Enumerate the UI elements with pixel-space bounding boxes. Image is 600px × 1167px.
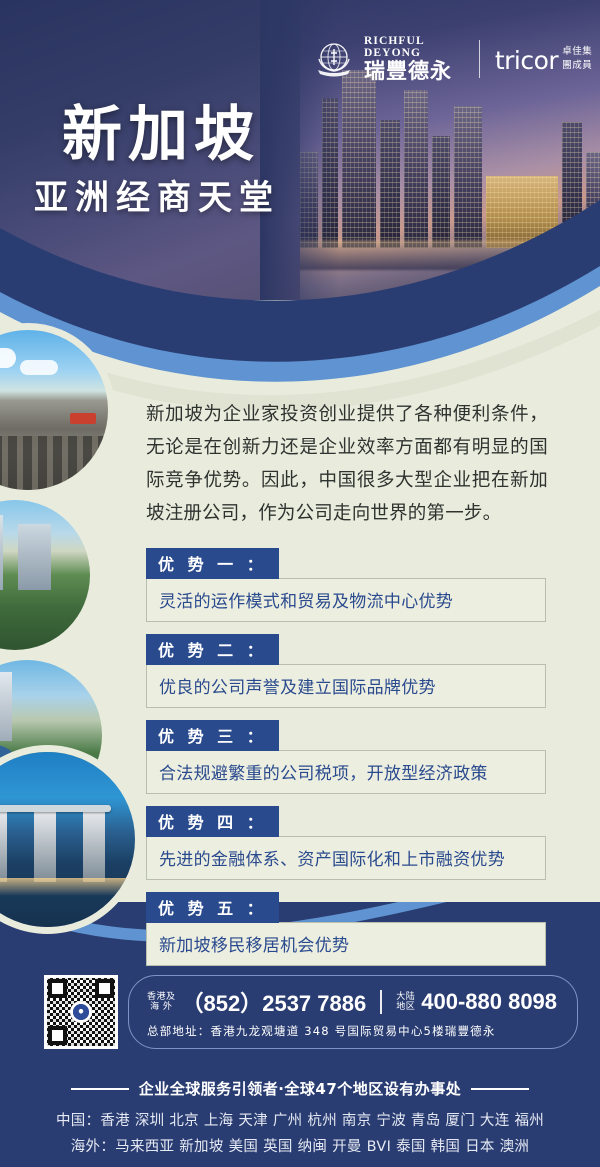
photo-greenery-cityscape <box>0 500 90 650</box>
advantage-label: 优 势 二 ： <box>146 634 279 665</box>
qr-code[interactable] <box>44 975 118 1049</box>
qr-finder-top-left <box>48 979 67 998</box>
brand-name-cn: 瑞豐德永 <box>364 61 464 82</box>
globe-crest-icon <box>312 37 356 81</box>
footer-tagline-text: 企业全球服务引领者·全球47个地区设有办事处 <box>139 1078 462 1099</box>
advantage-label: 优 势 一 ： <box>146 548 279 579</box>
contact-block: 香港及 海 外 （852）2537 7886 大陆 地区 400-880 809… <box>44 975 578 1049</box>
rule-right-icon <box>471 1088 529 1090</box>
brand-wordmark: RICHFUL DEYONG 瑞豐德永 <box>364 36 464 82</box>
cn-region-label: 大陆 地区 <box>396 992 415 1012</box>
partner-name-cn: 卓佳集團成員 <box>562 43 600 75</box>
rule-left-icon <box>71 1088 129 1090</box>
qr-finder-top-right <box>95 979 114 998</box>
advantage-label: 优 势 四 ： <box>146 806 279 837</box>
poster-root: 新加坡 亚洲经商天堂 RICHFUL DEYONG 瑞豐德永 tricor 卓佳… <box>0 0 600 1167</box>
advantage-item: 优 势 一 ： 灵活的运作模式和贸易及物流中心优势 <box>146 548 546 622</box>
overseas-offices: 海外：马来西亚 新加坡 美国 英国 纳闽 开曼 BVI 泰国 韩国 日本 澳洲 <box>0 1134 600 1160</box>
advantage-item: 优 势 二 ： 优良的公司声誉及建立国际品牌优势 <box>146 634 546 708</box>
office-locations: 中国：香港 深圳 北京 上海 天津 广州 杭州 南京 宁波 青岛 厦门 大连 福… <box>0 1108 600 1160</box>
advantage-item: 优 势 三 ： 合法规避繁重的公司税项，开放型经济政策 <box>146 720 546 794</box>
partner-name: tricor <box>495 46 558 75</box>
qr-finder-bottom-left <box>48 1026 67 1045</box>
advantage-item: 优 势 五 ： 新加坡移民移居机会优势 <box>146 892 546 966</box>
advantage-text: 新加坡移民移居机会优势 <box>146 922 546 966</box>
advantage-item: 优 势 四 ： 先进的金融体系、资产国际化和上市融资优势 <box>146 806 546 880</box>
phone-line: 香港及 海 外 （852）2537 7886 大陆 地区 400-880 809… <box>147 986 557 1018</box>
photo-shophouse-street <box>0 330 108 490</box>
phone-divider <box>380 990 382 1014</box>
partner-lockup: tricor 卓佳集團成員 <box>495 43 600 75</box>
advantage-label: 优 势 五 ： <box>146 892 279 923</box>
qr-pattern <box>47 978 115 1046</box>
page-subtitle: 亚洲经商天堂 <box>34 170 280 219</box>
cn-phone-number[interactable]: 400-880 8098 <box>421 989 557 1015</box>
footer-tagline: 企业全球服务引领者·全球47个地区设有办事处 <box>0 1078 600 1099</box>
logo-divider <box>479 40 480 78</box>
intro-paragraph: 新加坡为企业家投资创业提供了各种便利条件，无论是在创新力还是企业效率方面都有明显… <box>146 398 548 530</box>
advantage-text: 灵活的运作模式和贸易及物流中心优势 <box>146 578 546 622</box>
advantage-list: 优 势 一 ： 灵活的运作模式和贸易及物流中心优势 优 势 二 ： 优良的公司声… <box>146 548 546 978</box>
advantage-text: 优良的公司声誉及建立国际品牌优势 <box>146 664 546 708</box>
china-offices: 中国：香港 深圳 北京 上海 天津 广州 杭州 南京 宁波 青岛 厦门 大连 福… <box>0 1108 600 1134</box>
brand-name-en: RICHFUL DEYONG <box>364 36 464 59</box>
headquarters-address: 总部地址：香港九龙观塘道 348 号国际贸易中心5楼瑞豐德永 <box>147 1023 557 1039</box>
qr-center-logo-icon <box>70 1001 92 1023</box>
photo-marina-bay-sands <box>0 752 135 927</box>
page-title: 新加坡 <box>62 86 260 173</box>
advantage-label: 优 势 三 ： <box>146 720 279 751</box>
advantage-text: 合法规避繁重的公司税项，开放型经济政策 <box>146 750 546 794</box>
hk-phone-number[interactable]: （852）2537 7886 <box>182 986 367 1018</box>
brand-logo: RICHFUL DEYONG 瑞豐德永 tricor 卓佳集團成員 <box>312 36 600 82</box>
contact-card: 香港及 海 外 （852）2537 7886 大陆 地区 400-880 809… <box>128 975 578 1049</box>
advantage-text: 先进的金融体系、资产国际化和上市融资优势 <box>146 836 546 880</box>
hk-region-label: 香港及 海 外 <box>147 992 176 1012</box>
